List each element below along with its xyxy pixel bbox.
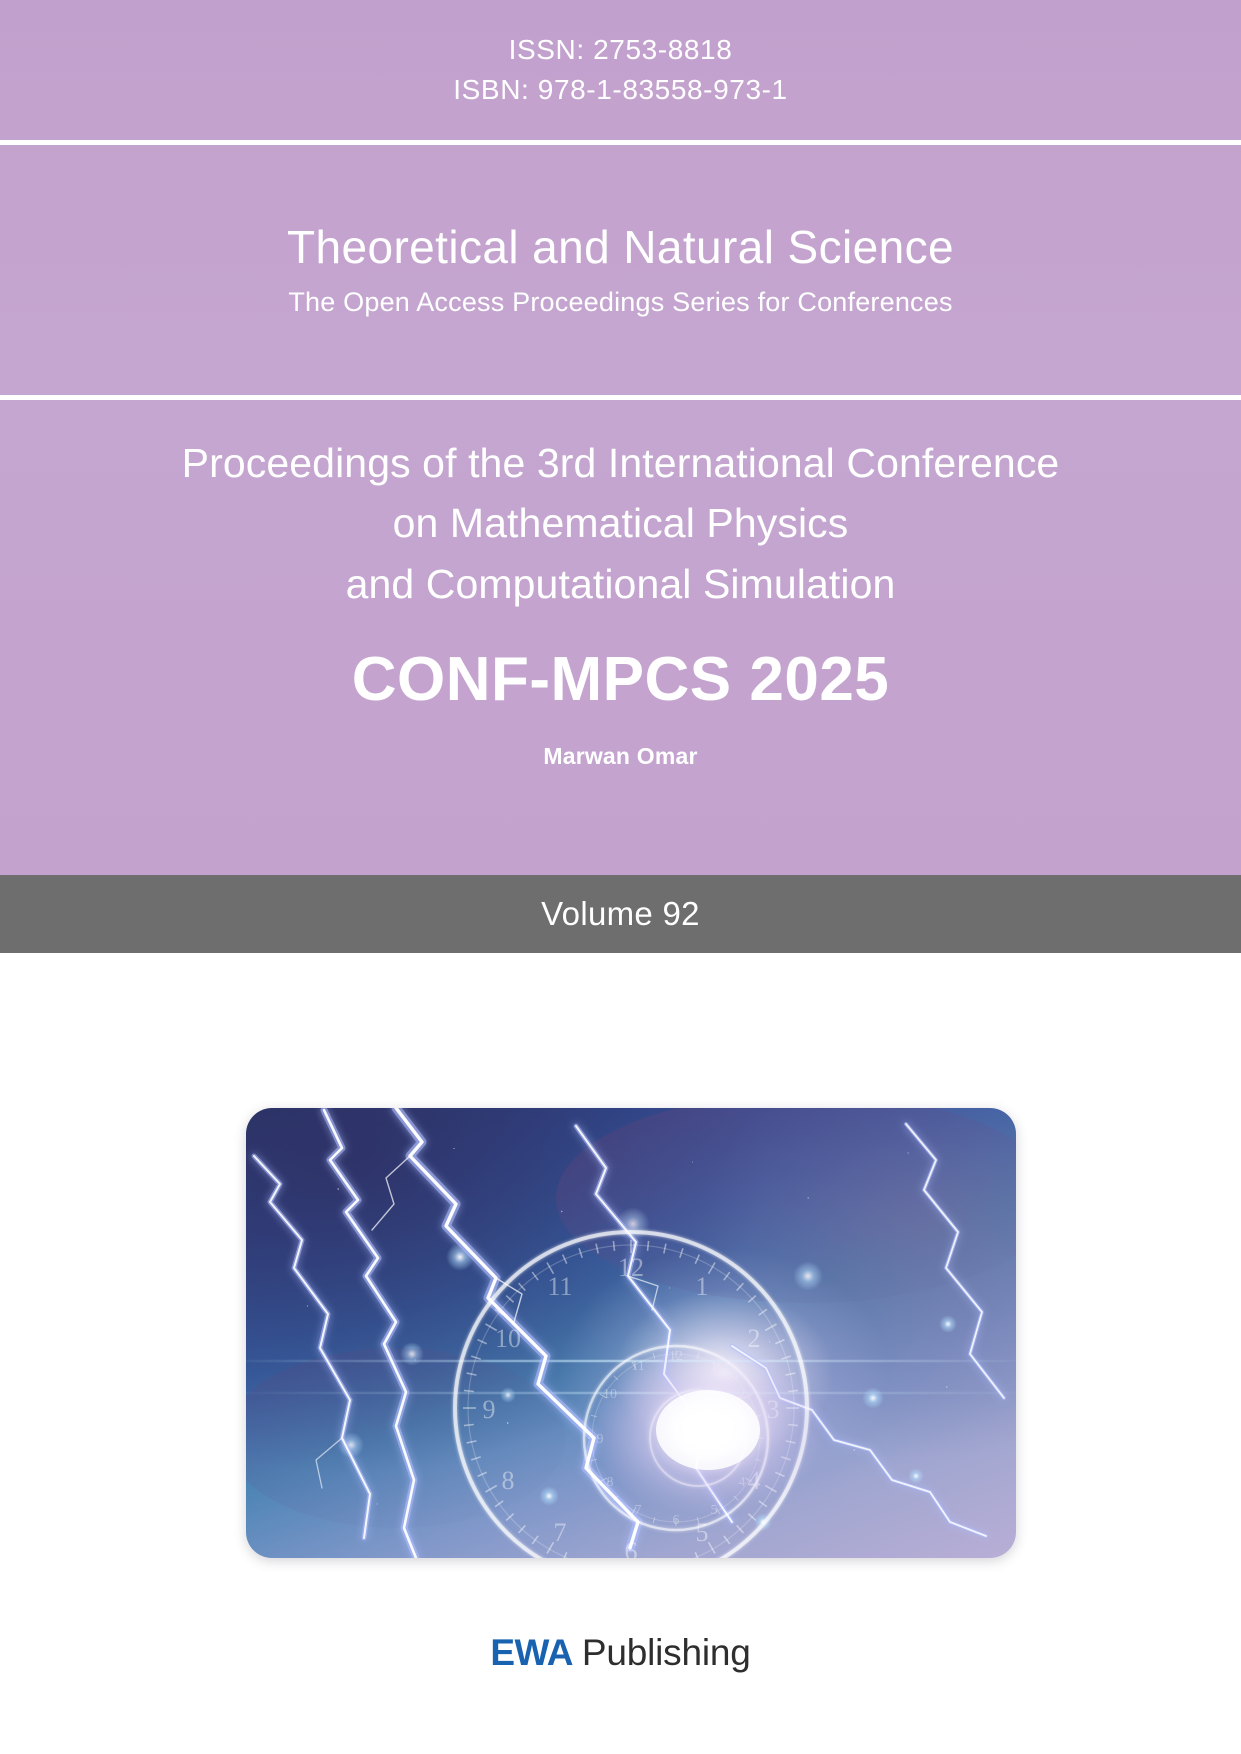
series-block: Theoretical and Natural Science The Open… [0,145,1241,395]
svg-text:8: 8 [502,1466,515,1495]
svg-text:9: 9 [483,1395,496,1424]
volume-band: Volume 92 [0,875,1241,953]
book-cover: ISSN: 2753-8818 ISBN: 978-1-83558-973-1 … [0,0,1241,1754]
svg-text:10: 10 [495,1324,521,1353]
conference-block: Proceedings of the 3rd International Con… [0,400,1241,875]
svg-text:2: 2 [748,1324,761,1353]
publisher-name: Publishing [582,1632,751,1674]
volume-label: Volume 92 [541,895,700,933]
series-subtitle: The Open Access Proceedings Series for C… [288,286,952,318]
artwork-vector-layer: 12 1 2 3 4 5 6 7 8 9 10 11 [246,1108,1016,1558]
svg-text:6: 6 [625,1537,638,1558]
identifier-block: ISSN: 2753-8818 ISBN: 978-1-83558-973-1 [0,0,1241,140]
conference-acronym: CONF-MPCS 2025 [352,644,890,715]
issn-text: ISSN: 2753-8818 [509,31,733,69]
svg-text:1: 1 [696,1272,709,1301]
cover-artwork: 12 1 2 3 4 5 6 7 8 9 10 11 [246,1108,1016,1558]
svg-text:11: 11 [547,1272,572,1301]
nebula-cloud [246,1348,566,1528]
svg-text:7: 7 [554,1518,567,1547]
editor-name: Marwan Omar [543,743,697,770]
series-title: Theoretical and Natural Science [287,222,954,273]
svg-text:12: 12 [618,1253,644,1282]
svg-text:7: 7 [635,1503,642,1518]
svg-text:6: 6 [673,1513,680,1528]
conference-title-line-1: Proceedings of the 3rd International Con… [182,433,1060,493]
artwork-image: 12 1 2 3 4 5 6 7 8 9 10 11 [246,1108,1016,1558]
isbn-text: ISBN: 978-1-83558-973-1 [453,71,787,109]
conference-title-line-3: and Computational Simulation [346,554,896,614]
svg-text:5: 5 [696,1518,709,1547]
conference-title-line-2: on Mathematical Physics [393,493,849,553]
publisher-mark: EWA [490,1632,572,1674]
masthead-panel: ISSN: 2753-8818 ISBN: 978-1-83558-973-1 … [0,0,1241,875]
publisher-logo: EWA Publishing [0,1632,1241,1674]
